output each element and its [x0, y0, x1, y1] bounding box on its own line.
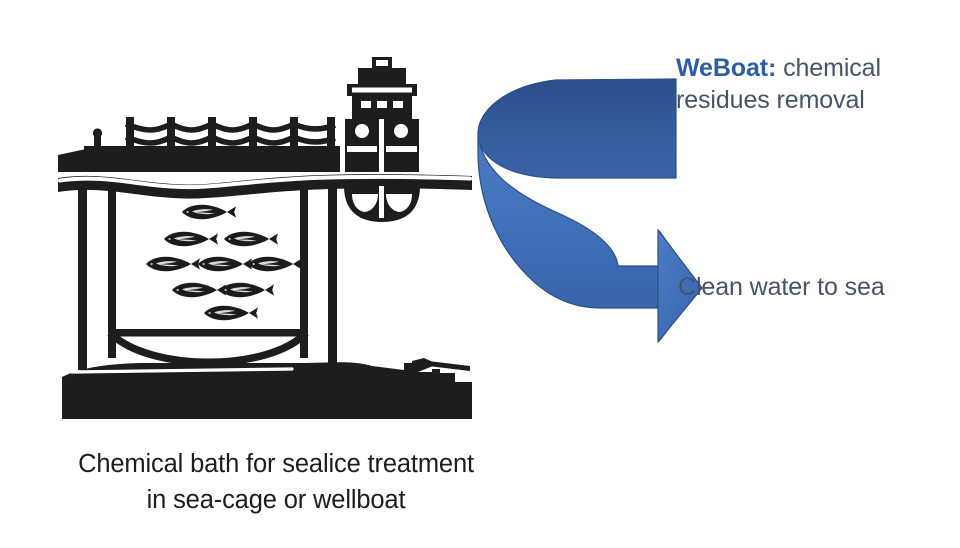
diagram-canvas: WeBoat: chemical residues removal Clean …: [0, 0, 960, 548]
farmed-fish-school: [146, 205, 302, 320]
wellboat-front-view: [344, 57, 420, 222]
weboat-label: WeBoat: chemical residues removal: [676, 52, 956, 116]
curved-u-turn-arrow[interactable]: [478, 79, 702, 342]
caption-line-1: Chemical bath for sealice treatment: [78, 450, 474, 478]
seabed-silhouette: [62, 358, 472, 419]
clean-water-label: Clean water to sea: [678, 271, 960, 303]
caption-line-2: in sea-cage or wellboat: [0, 482, 552, 518]
weboat-brand-text: WeBoat:: [676, 54, 776, 82]
cage-railing: [126, 117, 335, 149]
diagram-caption: Chemical bath for sealice treatmentin se…: [0, 446, 552, 518]
